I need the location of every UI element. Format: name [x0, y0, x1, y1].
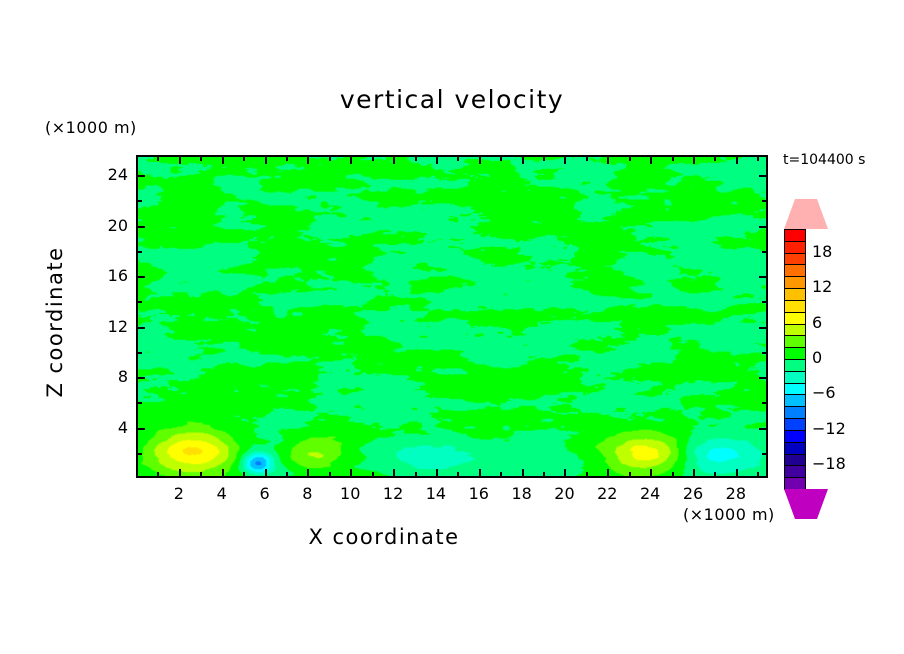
x-axis-tick [265, 155, 267, 164]
x-axis-tick [457, 155, 459, 161]
x-axis-tick [522, 469, 524, 478]
y-axis-tick [762, 402, 768, 404]
x-axis-tick [586, 155, 588, 161]
y-axis-tick [136, 428, 145, 430]
vertical-velocity-field [138, 157, 766, 476]
x-tick-label: 16 [459, 484, 499, 503]
x-axis-tick [693, 469, 695, 478]
y-axis-tick [136, 402, 142, 404]
x-axis-tick [157, 155, 159, 161]
y-axis-tick [759, 276, 768, 278]
x-axis-tick [436, 155, 438, 164]
y-axis-tick [759, 175, 768, 177]
x-axis-tick [222, 469, 224, 478]
y-tick-label: 24 [88, 165, 128, 184]
x-axis-tick [693, 155, 695, 164]
x-axis-tick [543, 155, 545, 161]
x-axis-tick [714, 472, 716, 478]
x-tick-label: 20 [544, 484, 584, 503]
x-axis-tick [329, 472, 331, 478]
x-axis-tick [714, 155, 716, 161]
x-axis-tick [286, 155, 288, 161]
colorbar-tick-label: 0 [812, 348, 822, 367]
x-axis-tick [607, 155, 609, 164]
x-axis-units-label: (×1000 m) [683, 505, 775, 524]
x-axis-tick [586, 472, 588, 478]
x-axis-tick [629, 155, 631, 161]
x-axis-tick [650, 155, 652, 164]
colorbar-tick-label: −18 [812, 454, 846, 473]
x-tick-label: 18 [502, 484, 542, 503]
colorbar-top-arrow [784, 199, 828, 229]
x-axis-tick [736, 155, 738, 164]
x-tick-label: 28 [716, 484, 756, 503]
x-axis-tick [329, 155, 331, 161]
y-axis-tick [759, 226, 768, 228]
x-axis-tick [543, 472, 545, 478]
colorbar-tick-label: 12 [812, 277, 832, 296]
y-axis-tick [136, 327, 145, 329]
x-axis-tick [265, 469, 267, 478]
y-axis-tick [759, 428, 768, 430]
x-axis-tick [672, 155, 674, 161]
y-axis-tick [759, 377, 768, 379]
y-axis-tick [136, 200, 142, 202]
x-tick-label: 8 [287, 484, 327, 503]
x-tick-label: 14 [416, 484, 456, 503]
x-axis-tick [372, 155, 374, 161]
y-axis-tick [136, 276, 145, 278]
y-axis-tick [136, 377, 145, 379]
chart-title: vertical velocity [0, 85, 904, 114]
x-axis-tick [736, 469, 738, 478]
x-axis-tick [629, 472, 631, 478]
x-tick-label: 10 [330, 484, 370, 503]
colorbar: 181260−6−12−18 [784, 199, 806, 519]
x-axis-tick [179, 469, 181, 478]
x-axis-tick [479, 155, 481, 164]
x-axis-tick [307, 155, 309, 164]
x-axis-tick [757, 472, 759, 478]
x-axis-tick [415, 472, 417, 478]
x-tick-label: 12 [373, 484, 413, 503]
x-axis-tick [350, 155, 352, 164]
colorbar-bottom-arrow [784, 489, 828, 519]
timestamp-annotation: t=104400 s [783, 152, 865, 168]
x-axis-tick [479, 469, 481, 478]
x-axis-tick [564, 469, 566, 478]
x-axis-tick [500, 155, 502, 161]
x-axis-tick [243, 472, 245, 478]
x-axis-tick [393, 469, 395, 478]
x-axis-tick [222, 155, 224, 164]
y-tick-label: 8 [88, 367, 128, 386]
x-tick-label: 2 [159, 484, 199, 503]
contour-plot-area [136, 155, 768, 478]
x-axis-tick [672, 472, 674, 478]
x-axis-tick [350, 469, 352, 478]
y-axis-tick [136, 453, 142, 455]
y-axis-tick [136, 352, 142, 354]
y-axis-units-label: (×1000 m) [45, 118, 137, 137]
y-tick-label: 20 [88, 216, 128, 235]
x-axis-tick [522, 155, 524, 164]
y-tick-label: 4 [88, 418, 128, 437]
x-axis-tick [200, 155, 202, 161]
x-axis-tick [243, 155, 245, 161]
x-axis-tick [286, 472, 288, 478]
y-axis-tick [762, 301, 768, 303]
x-axis-tick [307, 469, 309, 478]
colorbar-tick-label: −6 [812, 383, 836, 402]
x-axis-tick [564, 155, 566, 164]
y-axis-tick [762, 251, 768, 253]
x-axis-tick [500, 472, 502, 478]
x-axis-tick [372, 472, 374, 478]
y-axis-tick [136, 251, 142, 253]
x-axis-tick [436, 469, 438, 478]
x-tick-label: 24 [630, 484, 670, 503]
y-axis-tick [762, 200, 768, 202]
figure-canvas: vertical velocity (×1000 m) (×1000 m) X … [0, 0, 904, 654]
colorbar-tick-label: 18 [812, 242, 832, 261]
x-tick-label: 4 [202, 484, 242, 503]
y-axis-tick [759, 327, 768, 329]
colorbar-tick-label: −12 [812, 419, 846, 438]
x-tick-label: 22 [587, 484, 627, 503]
y-tick-label: 12 [88, 317, 128, 336]
x-axis-tick [457, 472, 459, 478]
x-axis-tick [179, 155, 181, 164]
x-axis-tick [607, 469, 609, 478]
y-axis-tick [762, 453, 768, 455]
x-axis-tick [757, 155, 759, 161]
colorbar-tick-label: 6 [812, 313, 822, 332]
y-axis-tick [136, 226, 145, 228]
x-tick-label: 26 [673, 484, 713, 503]
x-axis-tick [415, 155, 417, 161]
y-axis-tick [136, 301, 142, 303]
y-tick-label: 16 [88, 266, 128, 285]
x-axis-tick [200, 472, 202, 478]
y-axis-title: Z coordinate [43, 222, 67, 422]
x-axis-tick [393, 155, 395, 164]
x-axis-tick [650, 469, 652, 478]
x-axis-tick [157, 472, 159, 478]
x-axis-title: X coordinate [0, 525, 768, 549]
y-axis-tick [762, 352, 768, 354]
y-axis-tick [136, 175, 145, 177]
x-tick-label: 6 [245, 484, 285, 503]
